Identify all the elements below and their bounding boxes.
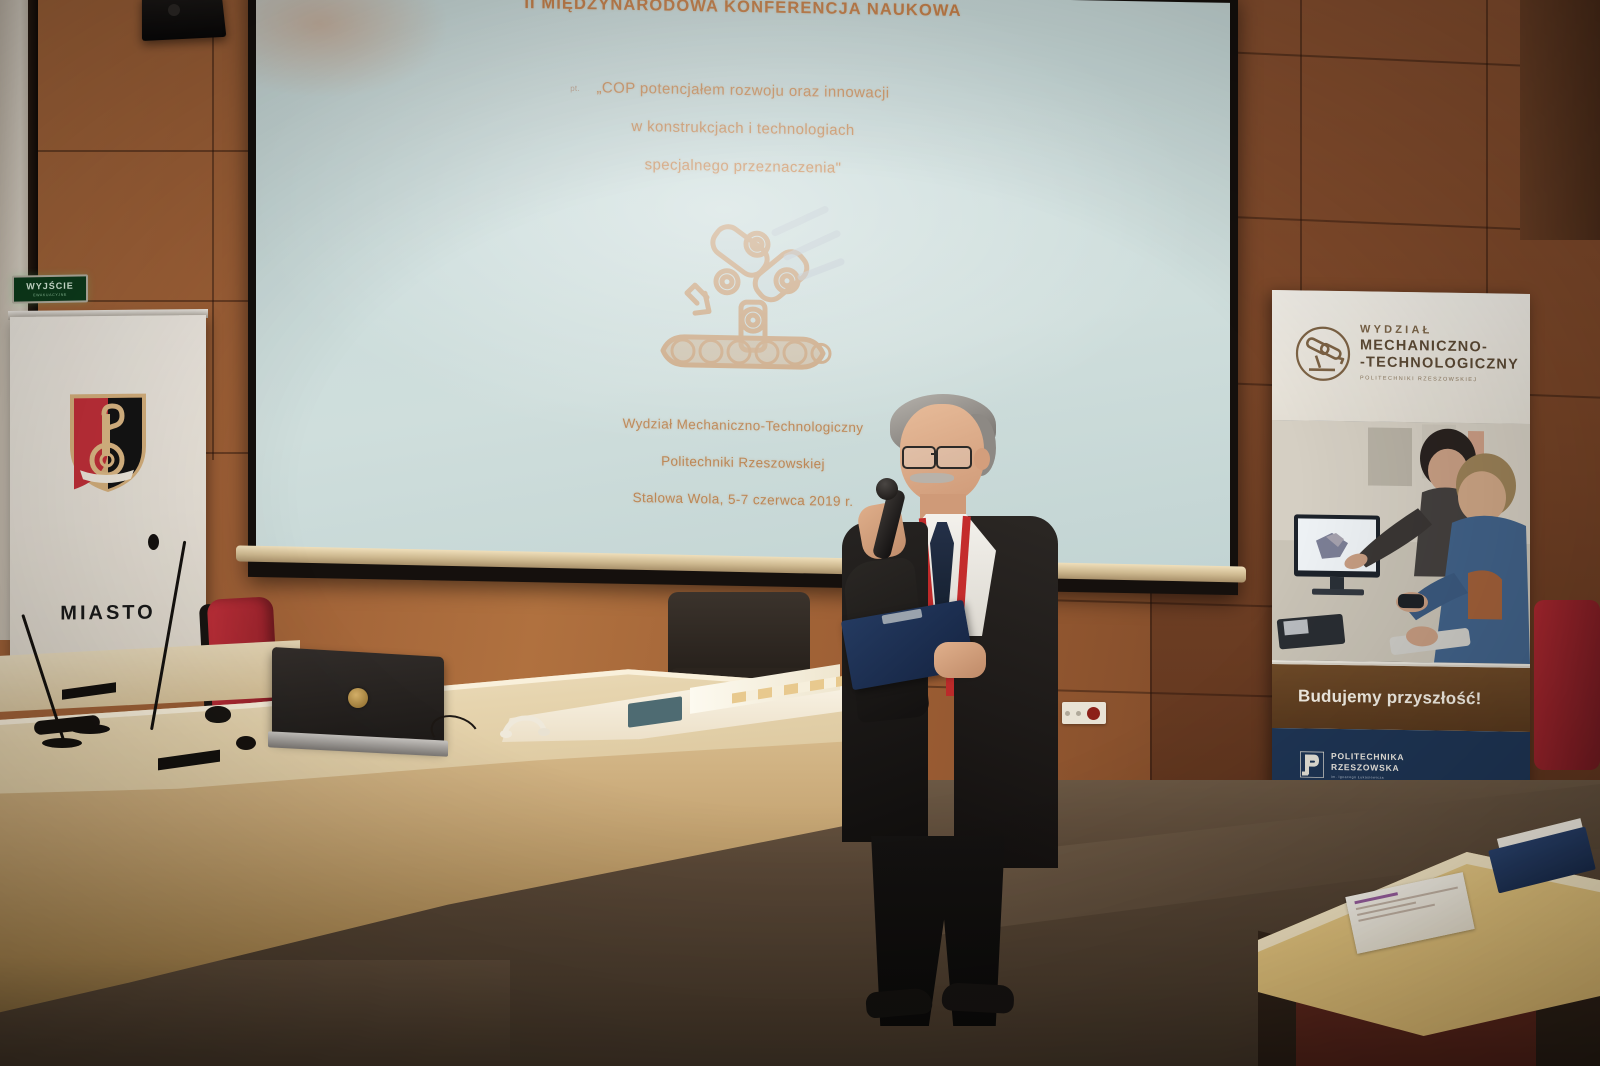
city-coat-of-arms-icon: [64, 388, 152, 497]
wall-outlet: [1062, 702, 1106, 724]
wall-seam: [1300, 0, 1302, 300]
speaker-person: [826, 396, 1066, 1056]
right-rollup-banner: WYDZIAŁ MECHANICZNO- -TECHNOLOGICZNY POL…: [1272, 290, 1530, 836]
exit-sign-sublabel: EWAKUACYJNE: [33, 292, 67, 297]
speaker-cone-icon: [168, 4, 180, 16]
red-chair-right[interactable]: [1534, 600, 1600, 770]
slide-subtitle-line-2: w konstrukcjach i technologiach: [256, 111, 1230, 146]
slide-footer-line-2: Politechniki Rzeszowskiej: [256, 446, 1230, 479]
outlet-red-socket-icon: [1087, 707, 1100, 720]
exit-sign: WYJŚCIE EWAKUACYJNE: [12, 274, 88, 303]
left-banner-word: MIASTO: [10, 601, 206, 626]
microphone-capsule-icon: [148, 534, 159, 550]
right-hand: [934, 642, 986, 678]
dell-logo-icon: [348, 688, 368, 708]
university-name-block: POLITECHNIKA RZESZOWSKA im. Ignacego Łuk…: [1331, 751, 1404, 779]
eyeglasses-bridge: [931, 453, 938, 455]
university-line-2: RZESZOWSKA: [1331, 762, 1404, 774]
projection-screen: II MIĘDZYNARODOWA KONFERENCJA NAUKOWA pt…: [248, 0, 1238, 595]
ear: [974, 448, 990, 470]
university-sub: im. Ignacego Łukasiewicza: [1331, 775, 1404, 780]
banner-header: WYDZIAŁ MECHANICZNO- -TECHNOLOGICZNY POL…: [1272, 290, 1530, 424]
conference-hall-photo: II MIĘDZYNARODOWA KONFERENCJA NAUKOWA pt…: [0, 0, 1600, 1066]
shoe-right: [941, 982, 1014, 1014]
eyeglasses-left-lens: [902, 446, 936, 469]
left-rollup-banner: MIASTO: [10, 315, 206, 675]
desk-small-object: [236, 736, 256, 750]
slide-footer-line-3: Stalowa Wola, 5-7 czerwca 2019 r.: [256, 483, 1230, 516]
banner-tagline-band: Budujemy przyszłość!: [1272, 662, 1530, 734]
slide-footer-line-1: Wydział Mechaniczno-Technologiczny: [256, 409, 1230, 442]
computer-mouse[interactable]: [205, 706, 231, 723]
banner-title-line-3: -TECHNOLOGICZNY: [1360, 354, 1519, 374]
projection-screen-surface: II MIĘDZYNARODOWA KONFERENCJA NAUKOWA pt…: [256, 0, 1230, 571]
ceiling-speaker-icon: [142, 0, 226, 41]
banner-subtitle: POLITECHNIKI RZESZOWSKIEJ: [1360, 375, 1519, 383]
eyeglasses-right-lens: [936, 446, 972, 469]
robot-arm-icon: [635, 200, 851, 384]
headset-icon: [500, 714, 550, 738]
university-logo-icon: [1300, 751, 1324, 777]
banner-photo-scene: [1272, 420, 1530, 664]
moustache: [910, 473, 954, 483]
right-corner-wall: [1520, 0, 1600, 240]
slide-subtitle-line-3: specjalnego przeznaczenia": [256, 149, 1230, 184]
banner-tagline: Budujemy przyszłość!: [1272, 686, 1482, 709]
banner-photo: [1272, 420, 1530, 664]
wall-seam: [212, 0, 214, 460]
exit-sign-label: WYJŚCIE: [26, 281, 74, 291]
wall-seam: [1150, 560, 1152, 790]
banner-title-block: WYDZIAŁ MECHANICZNO- -TECHNOLOGICZNY POL…: [1360, 323, 1519, 383]
faculty-logo-icon: [1294, 324, 1352, 383]
slide-subtitle-line-1: „COP potencjałem rozwoju oraz innowacji: [256, 73, 1230, 108]
